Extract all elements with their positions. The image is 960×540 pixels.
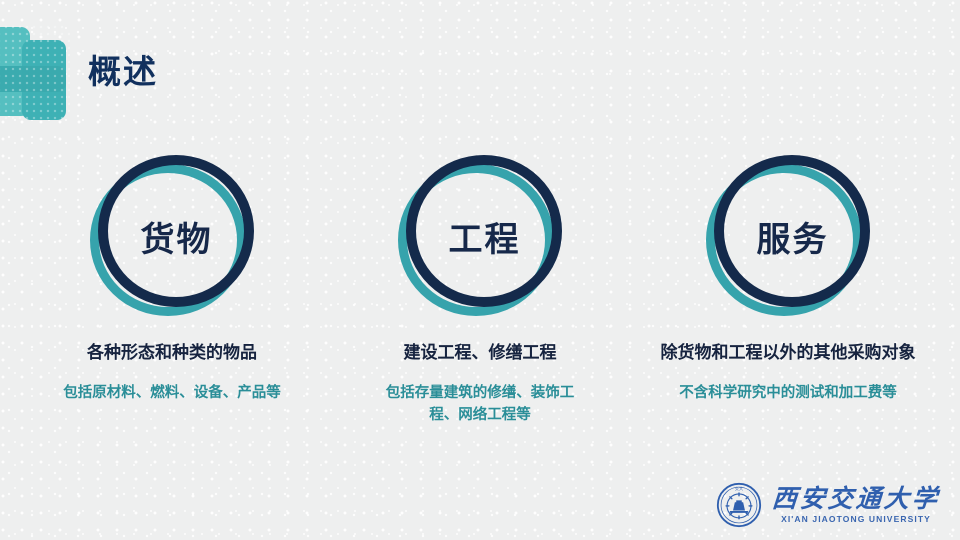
category-subtext-engineering: 包括存量建筑的修缮、装饰工程、网络工程等: [373, 383, 588, 427]
ring-graphic-services: 服务: [698, 150, 878, 322]
decoration-crossbar: [0, 66, 66, 92]
ring-label-services: 服务: [698, 150, 878, 322]
university-name-chinese: 西安交通大学: [771, 486, 941, 511]
category-column-services: 服务 除货物和工程以外的其他采购对象 不含科学研究中的测试和加工费等: [638, 150, 938, 405]
university-logo: 交大 西安交通大学 XI'AN JIAOTONG UNIVERSITY: [716, 482, 940, 528]
category-heading-engineering: 建设工程、修缮工程: [404, 342, 557, 363]
ring-label-engineering: 工程: [390, 150, 570, 322]
category-column-engineering: 工程 建设工程、修缮工程 包括存量建筑的修缮、装饰工程、网络工程等: [330, 150, 630, 427]
category-column-goods: 货物 各种形态和种类的物品 包括原材料、燃料、设备、产品等: [22, 150, 322, 405]
page-title: 概述: [88, 55, 158, 88]
category-heading-goods: 各种形态和种类的物品: [87, 342, 257, 363]
ring-graphic-goods: 货物: [82, 150, 262, 322]
corner-decoration: [0, 0, 90, 135]
ring-graphic-engineering: 工程: [390, 150, 570, 322]
university-logo-text: 西安交通大学 XI'AN JIAOTONG UNIVERSITY: [772, 486, 940, 524]
category-heading-services: 除货物和工程以外的其他采购对象: [661, 342, 916, 363]
university-name-english: XI'AN JIAOTONG UNIVERSITY: [781, 515, 931, 524]
category-subtext-services: 不含科学研究中的测试和加工费等: [679, 383, 897, 405]
xjtu-seal-icon: 交大: [716, 482, 762, 528]
category-columns: 货物 各种形态和种类的物品 包括原材料、燃料、设备、产品等 工程 建设工程、修缮…: [0, 150, 960, 427]
decoration-square-left: [0, 27, 30, 116]
ring-label-goods: 货物: [82, 150, 262, 322]
decoration-dot-texture: [0, 25, 70, 121]
category-subtext-goods: 包括原材料、燃料、设备、产品等: [63, 383, 281, 405]
slide-canvas: 概述 货物 各种形态和种类的物品 包括原材料、燃料、设备、产品等 工程 建设工程…: [0, 0, 960, 540]
svg-text:交大: 交大: [735, 485, 743, 491]
decoration-square-right: [22, 40, 66, 120]
